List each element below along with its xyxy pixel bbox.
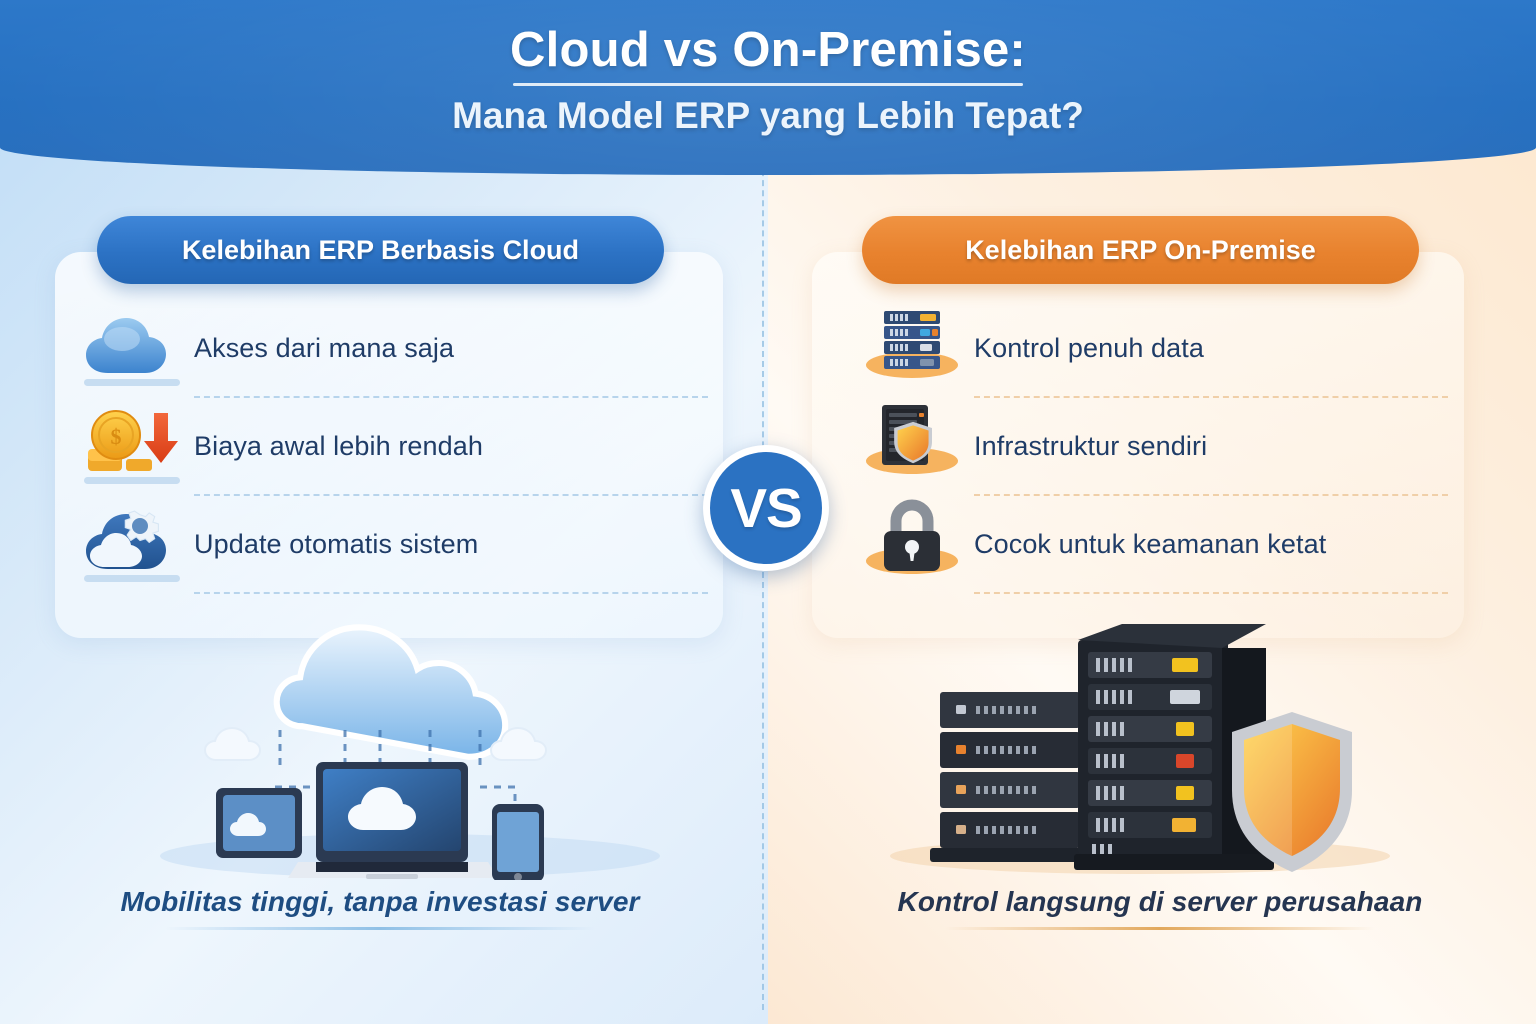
list-item[interactable]: Kontrol penuh data — [856, 306, 1456, 404]
left-section-pill[interactable]: Kelebihan ERP Berbasis Cloud — [97, 216, 664, 284]
list-item[interactable]: $ Biaya awal lebih rendah — [76, 404, 716, 502]
server-stack-icon-glyph — [862, 303, 972, 379]
right-caption-text: Kontrol langsung di server perusahaan — [880, 886, 1440, 918]
cloud-gear-icon-glyph — [82, 509, 186, 575]
list-item-label: Cocok untuk keamanan ketat — [974, 529, 1326, 560]
list-item[interactable]: Infrastruktur sendiri — [856, 404, 1456, 502]
padlock-icon-glyph — [862, 499, 972, 575]
list-item-separator — [974, 396, 1448, 398]
header-banner: Cloud vs On-Premise: Mana Model ERP yang… — [0, 0, 1536, 175]
title-underline — [513, 83, 1023, 86]
list-item-separator — [194, 396, 708, 398]
server-shield-icon — [856, 404, 974, 488]
list-item-label: Update otomatis sistem — [194, 529, 478, 560]
list-item-separator — [974, 592, 1448, 594]
page-title-secondary: Mana Model ERP yang Lebih Tepat? — [0, 95, 1536, 137]
page-title-primary: Cloud vs On-Premise: — [0, 22, 1536, 78]
icon-shelf — [84, 379, 180, 386]
left-feature-list: Akses dari mana saja — [76, 306, 716, 600]
list-item-separator — [974, 494, 1448, 496]
coins-down-arrow-icon: $ — [76, 404, 194, 488]
right-caption-underline — [945, 927, 1375, 930]
padlock-icon — [856, 502, 974, 586]
coins-down-arrow-icon-glyph: $ — [82, 407, 186, 477]
cloud-devices-illustration — [120, 612, 700, 880]
cloud-gear-icon — [76, 502, 194, 586]
vs-badge-label: VS — [730, 476, 801, 540]
list-item[interactable]: Akses dari mana saja — [76, 306, 716, 404]
header-title-block: Cloud vs On-Premise: Mana Model ERP yang… — [0, 0, 1536, 137]
vs-badge: VS — [703, 445, 829, 571]
center-divider — [762, 150, 764, 1010]
list-item-separator — [194, 592, 708, 594]
server-shield-icon-glyph — [862, 399, 972, 477]
right-section-pill-label: Kelebihan ERP On-Premise — [965, 235, 1316, 266]
svg-text:$: $ — [111, 424, 122, 449]
list-item-separator — [194, 494, 708, 496]
right-feature-list: Kontrol penuh data — [856, 306, 1456, 600]
list-item-label: Biaya awal lebih rendah — [194, 431, 483, 462]
right-section-pill[interactable]: Kelebihan ERP On-Premise — [862, 216, 1419, 284]
icon-shelf — [84, 477, 180, 484]
list-item-label: Infrastruktur sendiri — [974, 431, 1207, 462]
list-item-label: Akses dari mana saja — [194, 333, 454, 364]
left-caption-text: Mobilitas tinggi, tanpa investasi server — [100, 886, 660, 918]
left-caption-underline — [165, 927, 595, 930]
list-item[interactable]: Update otomatis sistem — [76, 502, 716, 600]
right-caption: Kontrol langsung di server perusahaan — [880, 886, 1440, 930]
cloud-icon-glyph — [82, 313, 186, 379]
icon-shelf — [84, 575, 180, 582]
left-caption: Mobilitas tinggi, tanpa investasi server — [100, 886, 660, 930]
list-item-label: Kontrol penuh data — [974, 333, 1204, 364]
server-stack-icon — [856, 306, 974, 390]
left-section-pill-label: Kelebihan ERP Berbasis Cloud — [182, 235, 579, 266]
list-item[interactable]: Cocok untuk keamanan ketat — [856, 502, 1456, 600]
cloud-icon — [76, 306, 194, 390]
server-rack-shield-illustration — [860, 600, 1420, 880]
